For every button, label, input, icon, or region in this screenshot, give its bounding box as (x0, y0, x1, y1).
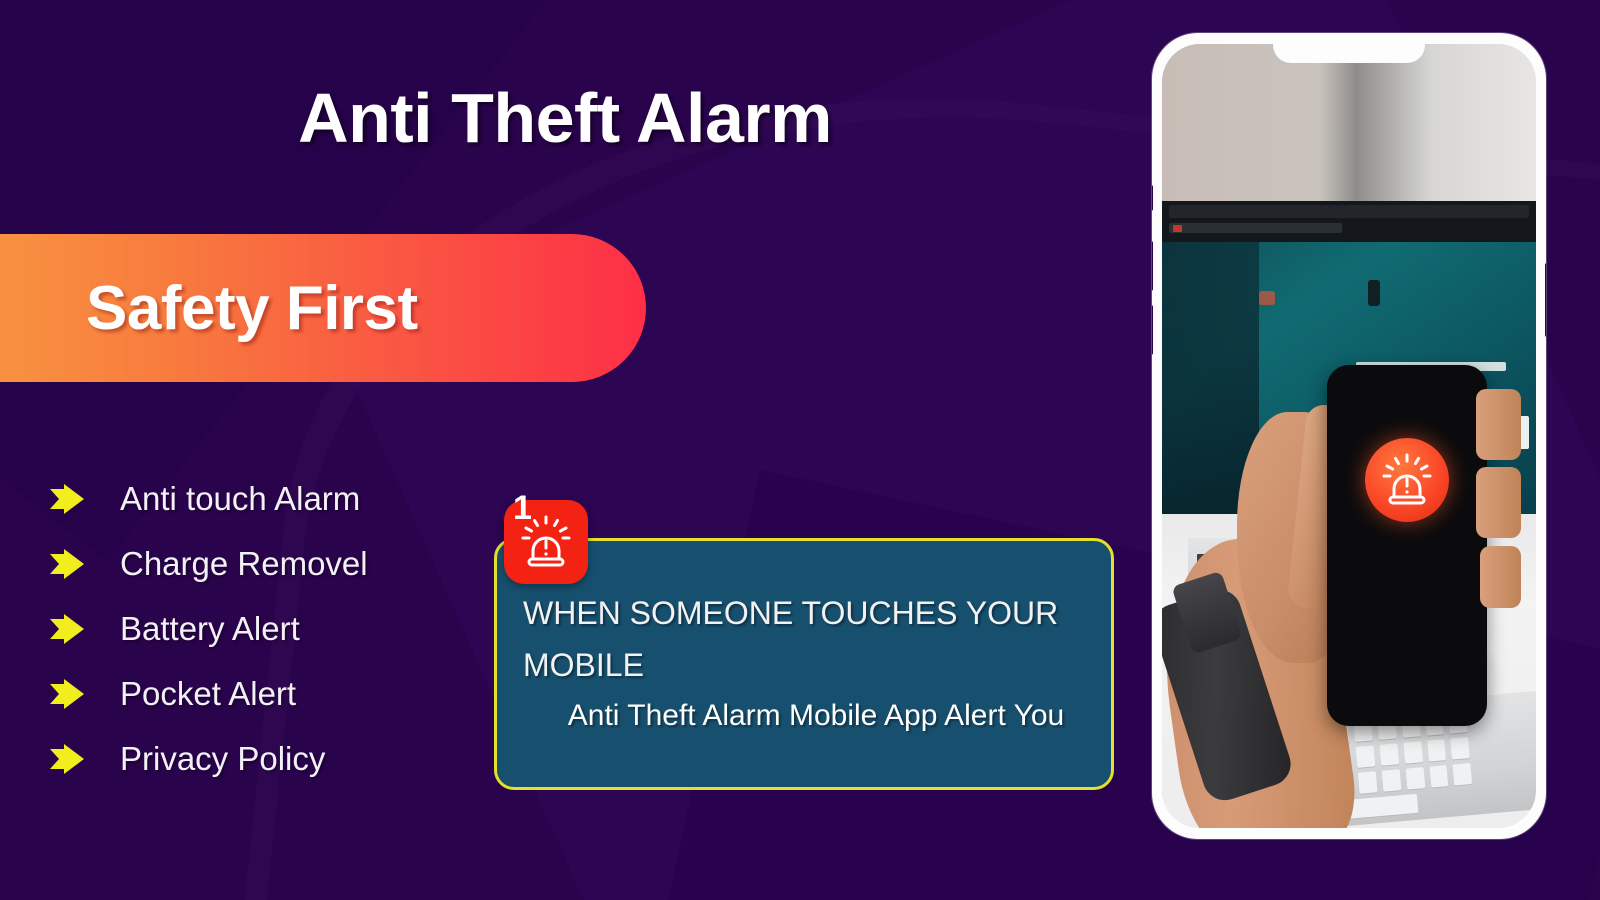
scene-inner-phone (1327, 365, 1488, 726)
list-item-label: Battery Alert (120, 610, 300, 648)
list-item-label: Pocket Alert (120, 675, 296, 713)
scene-browser-toolbar (1169, 205, 1528, 218)
list-item[interactable]: Anti touch Alarm (50, 466, 500, 531)
arrow-right-icon (50, 549, 84, 579)
alert-callout-box: WHEN SOMEONE TOUCHES YOUR MOBILE Anti Th… (494, 538, 1114, 790)
list-item-label: Charge Removel (120, 545, 368, 583)
phone-notch (1273, 33, 1425, 63)
phone-volume-up-button[interactable] (1152, 241, 1153, 291)
list-item-label: Privacy Policy (120, 740, 325, 778)
phone-volume-down-button[interactable] (1152, 305, 1153, 355)
phone-power-button[interactable] (1545, 263, 1546, 337)
phone-silence-switch[interactable] (1152, 185, 1153, 211)
scene-browser-tabs (1169, 223, 1341, 233)
arrow-right-icon (50, 484, 84, 514)
scene-finger (1476, 389, 1521, 460)
scene-hero-figure (1368, 280, 1380, 306)
scene-wall (1162, 44, 1536, 216)
safety-first-label: Safety First (86, 273, 418, 344)
list-item[interactable]: Battery Alert (50, 596, 500, 661)
arrow-right-icon (50, 679, 84, 709)
notification-badge-count: 1 (513, 491, 532, 525)
app-icon-badge[interactable]: 1 (504, 500, 588, 584)
page-title: Anti Theft Alarm (0, 78, 1130, 158)
inner-phone-alarm-badge (1365, 438, 1449, 522)
list-item[interactable]: Charge Removel (50, 531, 500, 596)
phone-screen (1162, 44, 1536, 828)
feature-list: Anti touch Alarm Charge Removel Battery … (50, 466, 500, 791)
safety-first-banner: Safety First (0, 234, 646, 382)
alarm-siren-icon (1379, 451, 1435, 509)
callout-headline: WHEN SOMEONE TOUCHES YOUR MOBILE (523, 587, 1109, 691)
scene-finger (1480, 546, 1521, 609)
scene-browser-dot (1173, 225, 1182, 232)
scene-hero-accent (1259, 291, 1275, 305)
list-item[interactable]: Pocket Alert (50, 661, 500, 726)
list-item-label: Anti touch Alarm (120, 480, 360, 518)
scene-finger (1476, 467, 1521, 538)
callout-subtext: Anti Theft Alarm Mobile App Alert You (523, 693, 1109, 738)
arrow-right-icon (50, 614, 84, 644)
promo-banner-stage: Anti Theft Alarm Safety First Anti touch… (0, 0, 1600, 900)
scene-browser-chrome (1162, 201, 1536, 242)
list-item[interactable]: Privacy Policy (50, 726, 500, 791)
phone-mockup (1152, 33, 1546, 839)
arrow-right-icon (50, 744, 84, 774)
